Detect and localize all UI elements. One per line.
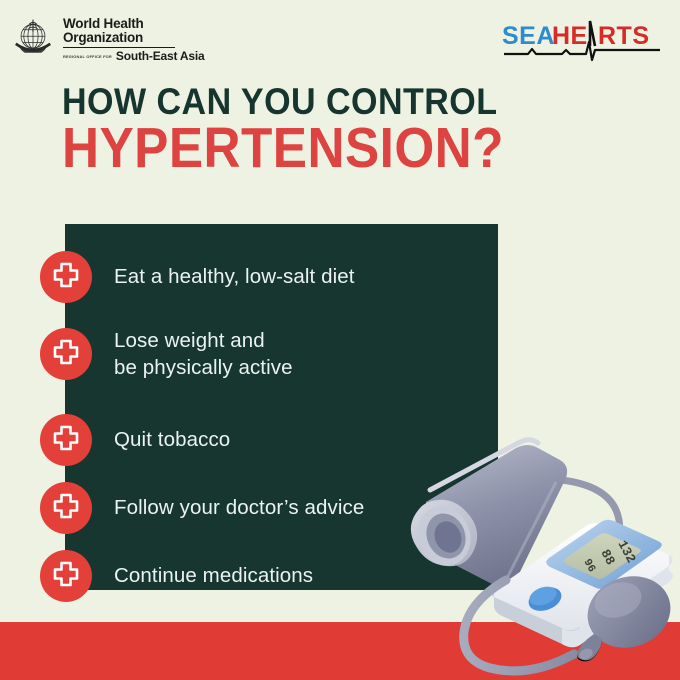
sea-hearts-he-text: HE [552, 22, 588, 50]
who-line-2: Organization [63, 31, 204, 45]
sea-hearts-rts-text: RTS [598, 22, 650, 50]
sea-hearts-sea-text: SEA [502, 22, 555, 50]
medical-cross-icon [46, 556, 86, 596]
sea-hearts-logo: SEA HE RTS [502, 18, 662, 62]
who-divider [63, 47, 175, 48]
medical-cross-icon [46, 488, 86, 528]
who-regional-prefix: REGIONAL OFFICE FOR [63, 53, 112, 61]
who-logo: World Health Organization REGIONAL OFFIC… [10, 16, 204, 62]
medical-cross-icon [46, 420, 86, 460]
list-item-label: Quit tobacco [114, 427, 230, 454]
who-emblem-icon [10, 16, 56, 62]
ecg-spike-letter-a-icon [590, 21, 595, 46]
poster-canvas: World Health Organization REGIONAL OFFIC… [0, 0, 680, 680]
list-item-label: Lose weight and be physically active [114, 328, 293, 381]
page-title-line-2: HYPERTENSION? [62, 119, 504, 177]
blood-pressure-monitor-illustration: 132 88 96 [386, 430, 680, 680]
list-item-bullet [40, 550, 92, 602]
list-item-label: Eat a healthy, low-salt diet [114, 264, 355, 291]
who-line-1: World Health [63, 17, 204, 31]
who-region-name: South-East Asia [116, 50, 205, 62]
list-item-bullet [40, 328, 92, 380]
who-wordmark: World Health Organization REGIONAL OFFIC… [63, 16, 204, 62]
medical-cross-icon [46, 257, 86, 297]
list-item-bullet [40, 251, 92, 303]
who-region-row: REGIONAL OFFICE FOR South-East Asia [63, 50, 204, 62]
list-item-bullet [40, 482, 92, 534]
list-item-label: Follow your doctor’s advice [114, 495, 364, 522]
list-item-bullet [40, 414, 92, 466]
list-item-label: Continue medications [114, 563, 313, 590]
medical-cross-icon [46, 334, 86, 374]
